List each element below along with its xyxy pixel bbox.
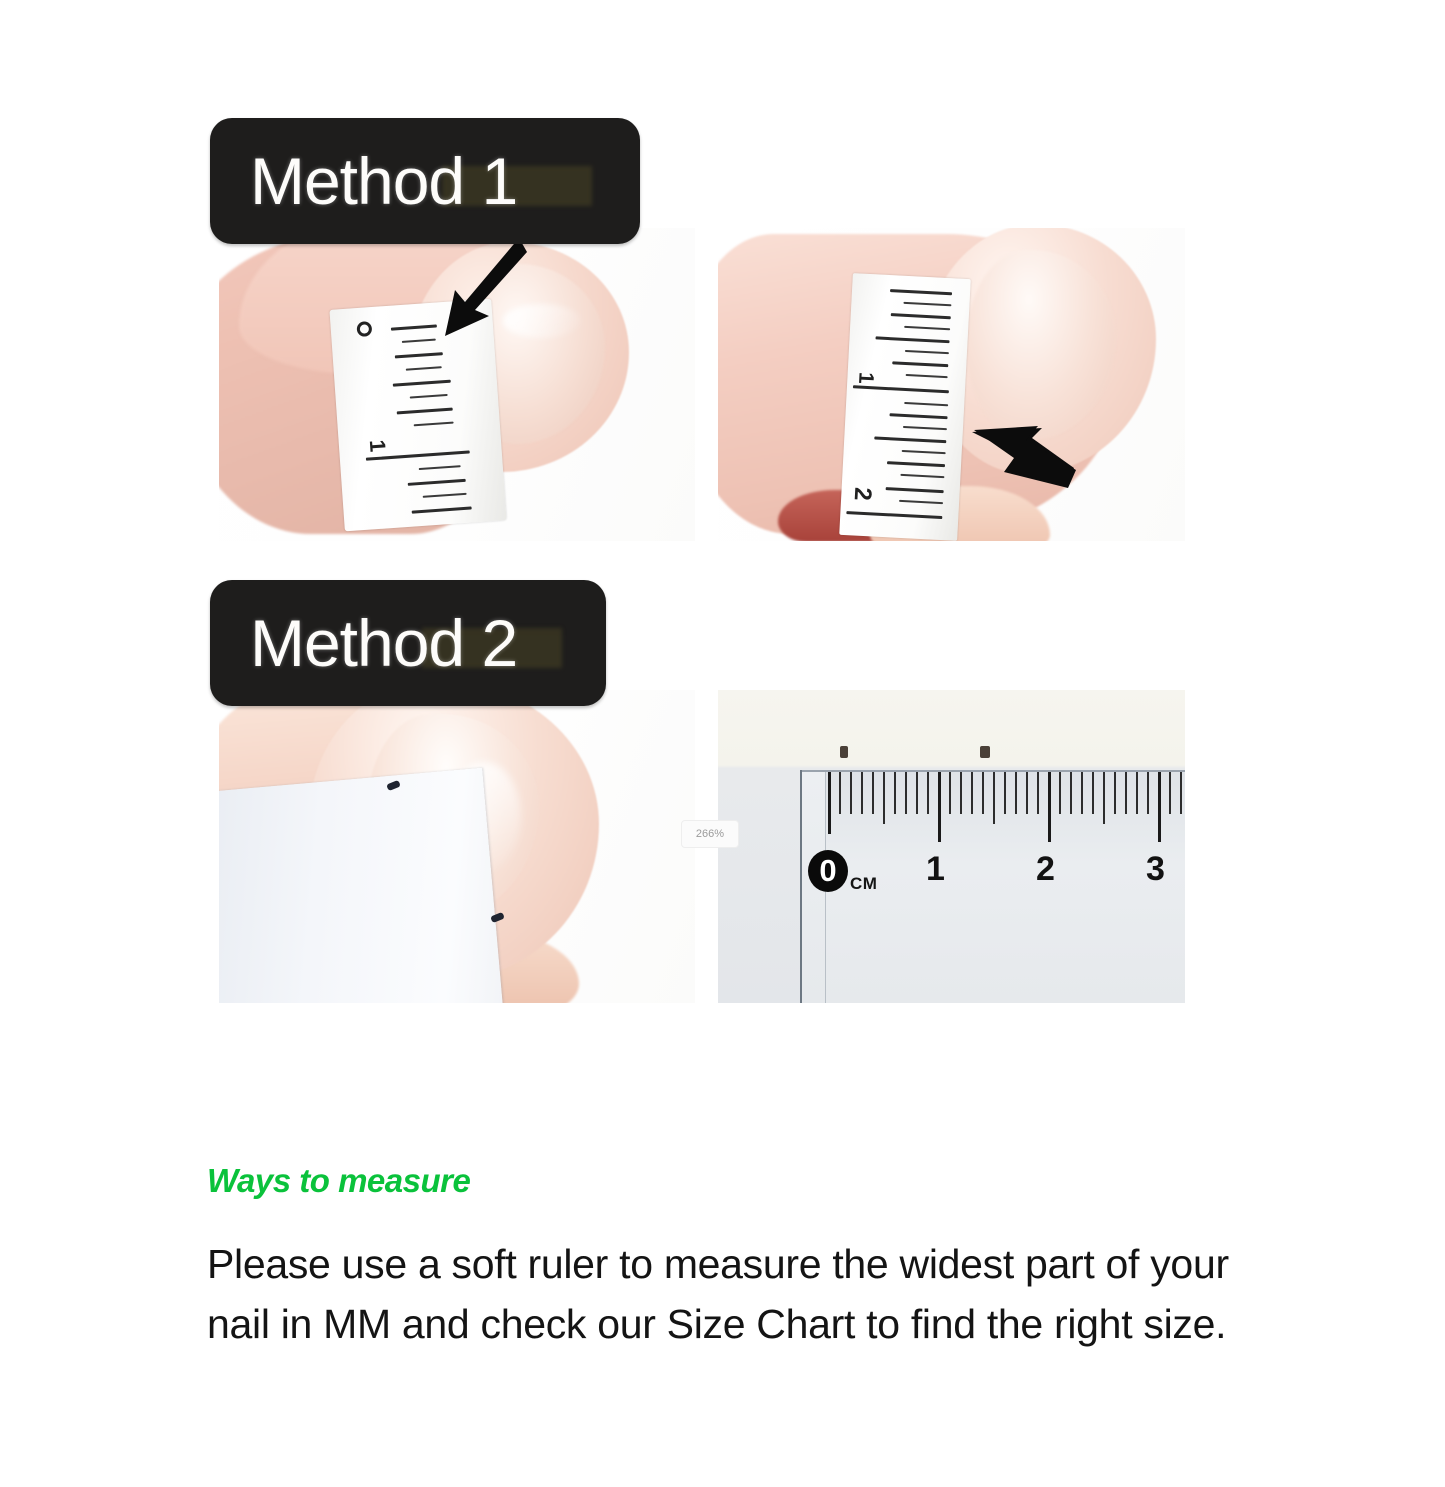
ruler-tick — [1147, 772, 1149, 814]
tape-tick — [890, 289, 952, 295]
ruler-tick — [1081, 772, 1083, 814]
tape-tick — [904, 402, 948, 406]
tape-tick — [408, 479, 466, 486]
tape-tick — [887, 461, 945, 467]
ruler-number-3: 3 — [1146, 850, 1165, 889]
ruler-unit-label: CM — [850, 874, 877, 894]
tape-tick — [886, 487, 944, 493]
tape-tick — [402, 339, 436, 343]
paper-strip — [219, 768, 503, 1003]
pointer-arrow-icon — [970, 426, 1080, 494]
ruler-tick-major — [938, 772, 941, 842]
plastic-ruler: 0 CM 1 2 3 — [800, 770, 1185, 1003]
ruler-tick — [883, 772, 885, 824]
ruler-tick — [905, 772, 907, 814]
ruler-tick — [1026, 772, 1028, 814]
tape-tick — [412, 506, 472, 513]
photo-panel-tape-side: 1 2 — [718, 228, 1185, 541]
tape-tick — [903, 426, 947, 430]
ruler-tick — [872, 772, 874, 814]
tape-tick — [899, 500, 943, 504]
tape-tick — [892, 361, 948, 367]
dust-speck — [840, 746, 848, 758]
ruler-tick — [1059, 772, 1061, 814]
tape-tick — [395, 352, 443, 358]
instructions-paragraph: Please use a soft ruler to measure the w… — [207, 1235, 1237, 1354]
ruler-tick — [949, 772, 951, 814]
ruler-tick-major — [1048, 772, 1051, 842]
tape-major-line — [366, 450, 470, 460]
ruler-tick — [993, 772, 995, 824]
tape-tick — [874, 436, 946, 443]
ruler-tick — [1136, 772, 1138, 814]
method-2-label-chip: Method 2 — [210, 580, 606, 706]
ruler-tick-major — [1158, 772, 1161, 842]
instructions-text-block: Ways to measure Please use a soft ruler … — [207, 1163, 1242, 1354]
photo-panel-tape-front: 1 — [219, 228, 695, 541]
ruler-tick — [1004, 772, 1006, 814]
tape-tick — [393, 380, 451, 387]
tape-tick — [406, 366, 442, 371]
method-2-label: Method 2 — [250, 610, 517, 676]
ruler-tick — [971, 772, 973, 814]
tape-tick — [904, 326, 950, 330]
measurement-instructions-figure: Method 1 — [210, 110, 1185, 1005]
ruler-left-edge — [800, 770, 802, 1003]
section-heading: Ways to measure — [207, 1163, 1242, 1199]
ruler-tick — [1092, 772, 1094, 814]
ruler-number-2: 2 — [1036, 850, 1055, 889]
pointer-arrow-icon — [441, 236, 531, 346]
tape-tick — [414, 422, 454, 427]
tape-tick — [902, 450, 946, 454]
tape-number: 1 — [853, 371, 878, 384]
ruler-tick — [850, 772, 852, 814]
ruler-tick — [1103, 772, 1105, 824]
ruler-tick — [927, 772, 929, 814]
soft-measuring-tape: 1 2 — [839, 273, 971, 541]
dust-speck — [980, 746, 990, 758]
photo-panel-paper-strip — [219, 690, 695, 1003]
tape-tick — [900, 474, 944, 478]
ruler-number-0: 0 — [808, 850, 848, 892]
tape-tick — [905, 350, 949, 354]
tape-tick — [391, 324, 437, 330]
ruler-tick — [861, 772, 863, 814]
ruler-tick — [1180, 772, 1182, 814]
ruler-tick — [839, 772, 841, 814]
ruler-tick-major — [828, 772, 831, 834]
ruler-tick — [916, 772, 918, 814]
page-root: Method 1 — [0, 0, 1445, 1487]
tape-tick — [423, 493, 467, 498]
tape-major-line — [853, 385, 949, 393]
ruler-tick — [960, 772, 962, 814]
ruler-tick — [1169, 772, 1171, 814]
ruler-tick — [1015, 772, 1017, 814]
tape-zero-marker — [356, 321, 372, 337]
method-1-photo-row: 1 — [210, 228, 1185, 541]
ruler-tick — [982, 772, 984, 814]
tape-tick — [891, 313, 951, 319]
tape-major-line — [846, 511, 942, 519]
tape-tick — [906, 374, 948, 378]
method-1-label-chip: Method 1 — [210, 118, 640, 244]
ruler-tick — [894, 772, 896, 814]
ruler-tick — [1070, 772, 1072, 814]
ruler-tick — [1114, 772, 1116, 814]
ruler-number-1: 1 — [926, 850, 945, 889]
ruler-tick — [1125, 772, 1127, 814]
tape-tick — [419, 465, 461, 470]
tape-tick — [889, 413, 947, 419]
ruler-tick — [1037, 772, 1039, 814]
tape-tick — [903, 302, 951, 307]
tape-tick — [397, 408, 453, 415]
tape-number: 1 — [364, 439, 391, 453]
tape-tick — [875, 336, 949, 343]
photo-panel-ruler: 0 CM 1 2 3 — [718, 690, 1185, 1003]
tape-tick — [410, 394, 448, 399]
zoom-level-badge: 266% — [681, 820, 739, 848]
method-1-label: Method 1 — [250, 148, 517, 214]
tape-number: 2 — [848, 486, 877, 501]
